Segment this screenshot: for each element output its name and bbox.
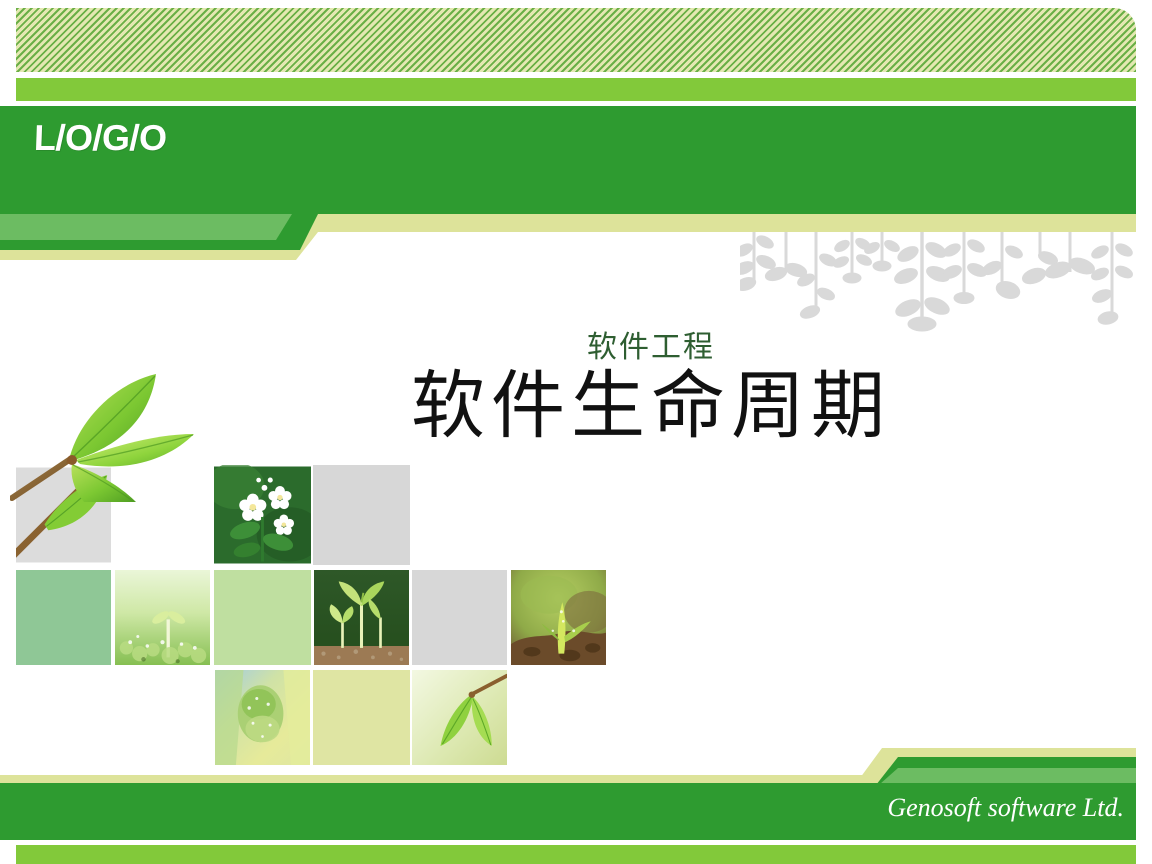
slide-canvas: L/O/G/O <box>0 0 1152 864</box>
tile-two-leaves <box>412 670 507 765</box>
tile-white-flowers <box>214 465 311 565</box>
tile-corn-sprout <box>511 570 606 665</box>
company-name: Genosoft software Ltd. <box>887 793 1124 823</box>
tile-leaf-branch <box>16 465 111 565</box>
tile-green-solid-1 <box>16 570 111 665</box>
tile-gray-solid-1 <box>313 465 410 565</box>
tile-three-seedlings <box>313 570 410 665</box>
tile-lightgreen-solid <box>214 570 311 665</box>
image-mosaic <box>0 0 640 780</box>
footer-bright-green-bar <box>16 845 1136 864</box>
tile-gray-solid-2 <box>412 570 507 665</box>
tile-paleyellow-solid <box>313 670 410 765</box>
tile-bud-closeup <box>214 670 311 765</box>
tile-dew-sprout <box>115 570 210 665</box>
